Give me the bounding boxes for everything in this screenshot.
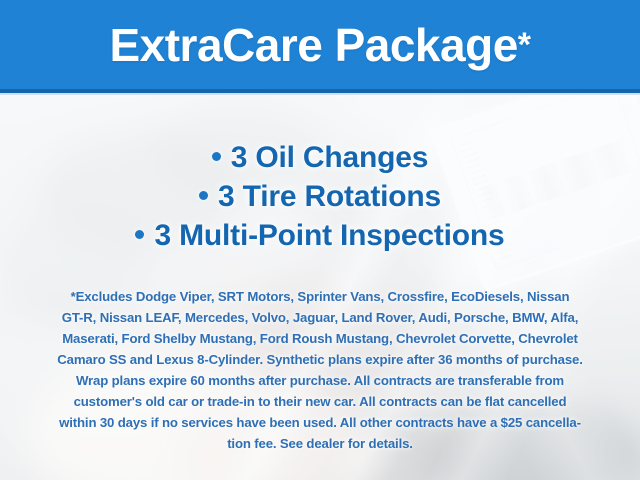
- extracare-package-ad: ExtraCare Package* 3 Oil Changes 3 Tire …: [0, 0, 640, 480]
- disclaimer-text: *Excludes Dodge Viper, SRT Motors, Sprin…: [22, 286, 618, 454]
- disclaimer-line: customer's old car or trade-in to their …: [22, 391, 618, 412]
- bullet-dot-icon: [212, 152, 221, 161]
- disclaimer-line: Camaro SS and Lexus 8-Cylinder. Syntheti…: [22, 349, 618, 370]
- disclaimer-line: tion fee. See dealer for details.: [22, 433, 618, 454]
- page-title: ExtraCare Package*: [0, 0, 640, 89]
- list-item: 3 Multi-Point Inspections: [0, 216, 640, 255]
- bullet-dot-icon: [199, 191, 208, 200]
- list-item-label: 3 Multi-Point Inspections: [154, 219, 504, 252]
- bullet-dot-icon: [135, 230, 144, 239]
- list-item: 3 Tire Rotations: [0, 177, 640, 216]
- list-item-label: 3 Oil Changes: [231, 141, 428, 174]
- list-item: 3 Oil Changes: [0, 138, 640, 177]
- disclaimer-line: within 30 days if no services have been …: [22, 412, 618, 433]
- benefits-list: 3 Oil Changes 3 Tire Rotations 3 Multi-P…: [0, 138, 640, 255]
- disclaimer-line: Maserati, Ford Shelby Mustang, Ford Rous…: [22, 328, 618, 349]
- disclaimer-line: GT-R, Nissan LEAF, Mercedes, Volvo, Jagu…: [22, 307, 618, 328]
- page-title-text: ExtraCare Package: [109, 22, 517, 68]
- disclaimer-line: Wrap plans expire 60 months after purcha…: [22, 370, 618, 391]
- list-item-label: 3 Tire Rotations: [218, 180, 441, 213]
- disclaimer-line: *Excludes Dodge Viper, SRT Motors, Sprin…: [22, 286, 618, 307]
- header-bottom-highlight: [0, 93, 640, 95]
